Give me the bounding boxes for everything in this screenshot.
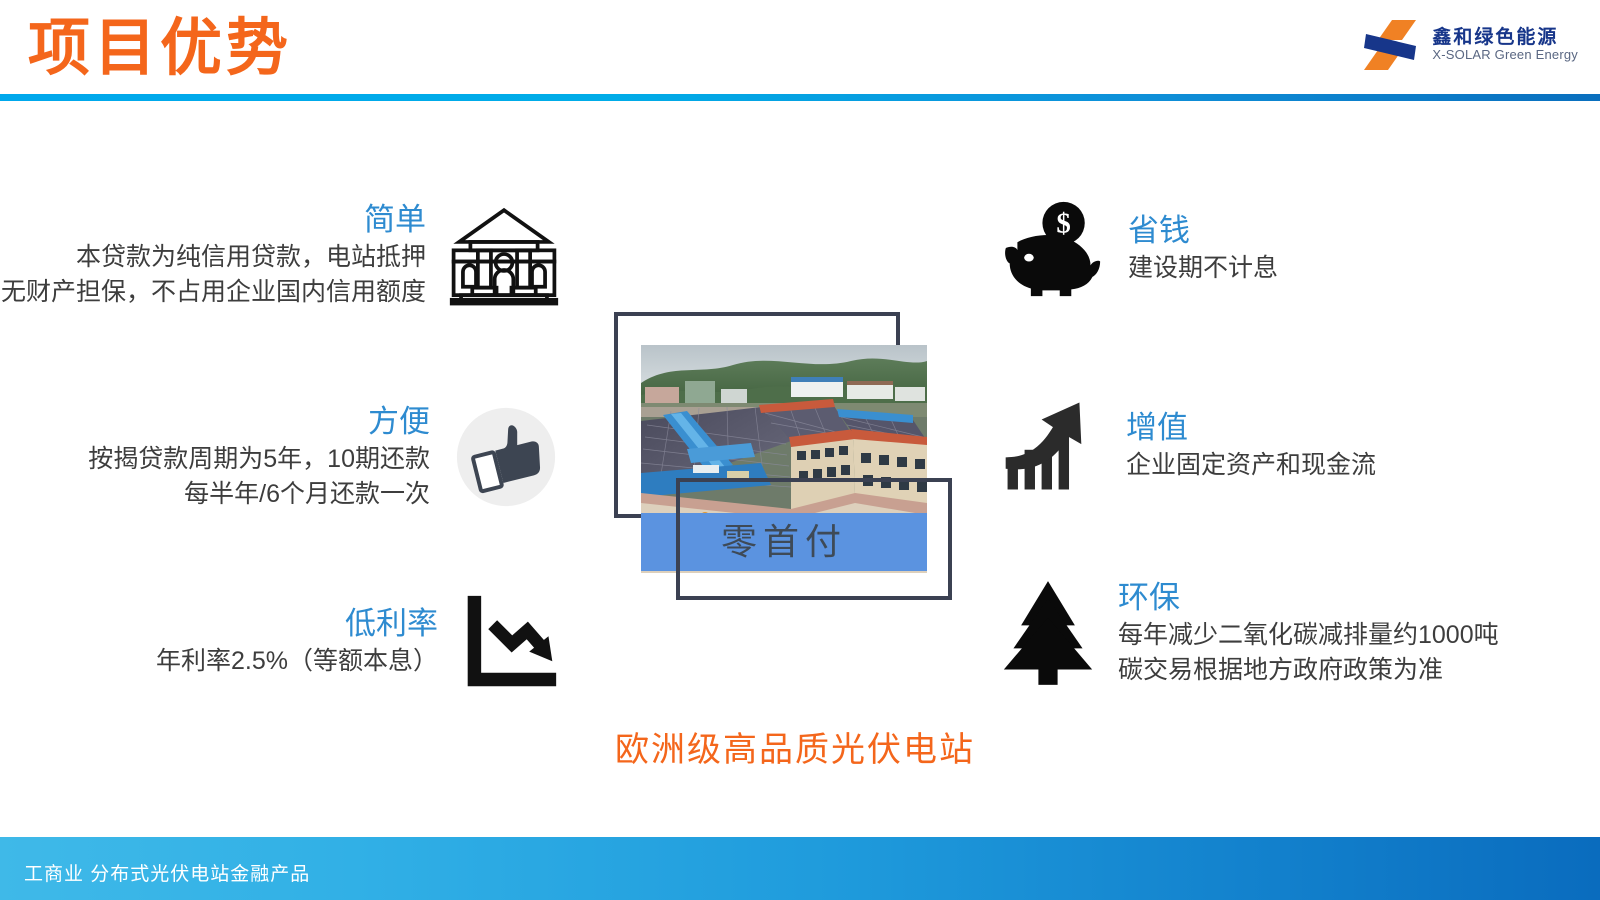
header-divider [0,94,1600,101]
feature-simple-text: 简单 本贷款为纯信用贷款，电站抵押 无财产担保，不占用企业国内信用额度 [1,200,426,311]
piggy-bank-icon: $ [1000,198,1106,300]
feature-appreciation: 增值 企业固定资产和现金流 [1000,398,1376,494]
feature-environmental-text: 环保 每年减少二氧化碳减排量约1000吨 碳交易根据地方政府政策为准 [1118,578,1499,689]
feature-environmental-line-2: 碳交易根据地方政府政策为准 [1118,653,1443,689]
feature-low-rate: 低利率 年利率2.5%（等额本息） [120,592,560,692]
feature-simple-line-1: 本贷款为纯信用贷款，电站抵押 [76,240,426,276]
thumbs-up-icon [452,403,560,511]
footer-bar: 工商业 分布式光伏电站金融产品 [0,837,1600,900]
center-caption-text: 欧洲级高品质光伏电站 [615,722,975,771]
feature-convenient: 方便 按揭贷款周期为5年，10期还款 每半年/6个月还款一次 [60,402,560,513]
feature-convenient-text: 方便 按揭贷款周期为5年，10期还款 每半年/6个月还款一次 [88,402,430,513]
declining-chart-icon [460,592,560,692]
brand-logo: 鑫和绿色能源 X-SOLAR Green Energy [1362,18,1578,72]
decorative-frame-bottom [676,478,952,600]
center-caption: 欧洲级高品质光伏电站 [0,722,1600,771]
feature-low-rate-text: 低利率 年利率2.5%（等额本息） [156,604,438,679]
bank-icon [448,204,560,306]
feature-low-rate-heading: 低利率 [345,604,438,644]
feature-save-money-heading: 省钱 [1128,211,1190,251]
logo-name-cn: 鑫和绿色能源 [1432,27,1578,49]
feature-appreciation-line-1: 企业固定资产和现金流 [1126,448,1376,484]
feature-environmental-heading: 环保 [1118,578,1180,618]
feature-save-money-text: 省钱 建设期不计息 [1128,211,1278,286]
feature-environmental-line-1: 每年减少二氧化碳减排量约1000吨 [1118,618,1499,654]
feature-save-money-line-1: 建设期不计息 [1128,251,1278,287]
slide-root: 项目优势 鑫和绿色能源 X-SOLAR Green Energy 简单 本贷款为… [0,0,1600,900]
feature-low-rate-line-1: 年利率2.5%（等额本息） [156,644,438,680]
logo-name-en: X-SOLAR Green Energy [1432,48,1578,63]
footer-label: 工商业 分布式光伏电站金融产品 [24,859,310,886]
growth-arrow-icon [1000,398,1104,494]
feature-save-money: $ 省钱 建设期不计息 [1000,198,1278,300]
feature-convenient-heading: 方便 [368,402,430,442]
feature-convenient-line-1: 按揭贷款周期为5年，10期还款 [88,442,430,478]
feature-appreciation-heading: 增值 [1126,408,1188,448]
x-solar-mark-icon [1362,18,1420,72]
feature-environmental: 环保 每年减少二氧化碳减排量约1000吨 碳交易根据地方政府政策为准 [1000,578,1499,689]
feature-appreciation-text: 增值 企业固定资产和现金流 [1126,408,1376,483]
page-title: 项目优势 [28,10,292,88]
svg-text:$: $ [1056,208,1070,240]
feature-simple: 简单 本贷款为纯信用贷款，电站抵押 无财产担保，不占用企业国内信用额度 [0,200,560,311]
feature-simple-heading: 简单 [364,200,426,240]
tree-icon [1000,579,1096,687]
feature-convenient-line-2: 每半年/6个月还款一次 [184,477,430,513]
feature-simple-line-2: 无财产担保，不占用企业国内信用额度 [1,275,426,311]
